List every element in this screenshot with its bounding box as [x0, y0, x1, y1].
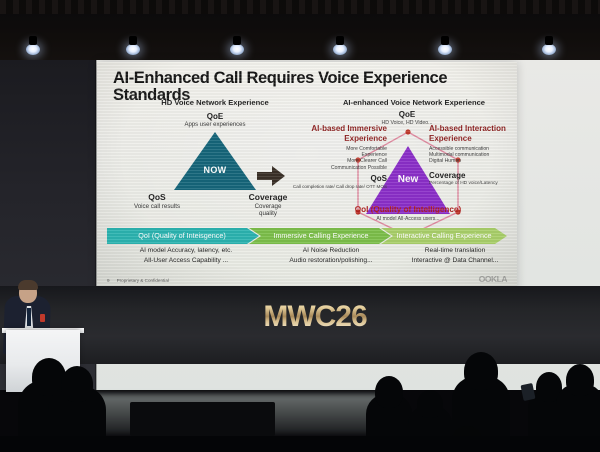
- ceiling-spotlight: [542, 44, 556, 55]
- left-qos-sub: Voice call results: [122, 203, 192, 210]
- interaction-title-line1: AI-based Interaction: [429, 124, 517, 134]
- chevron-2-details: AI Noise Reduction Audio restoration/pol…: [263, 246, 399, 265]
- now-triangle: NOW: [174, 132, 256, 190]
- audience-laptop: [130, 402, 275, 436]
- mwc-banner: MWC26: [240, 300, 390, 334]
- conference-photo: AI-Enhanced Call Requires Voice Experien…: [0, 0, 600, 452]
- ceiling-spotlight: [438, 44, 452, 55]
- audience: [0, 358, 600, 452]
- speaker-badge: [40, 314, 45, 322]
- ceiling-spotlight: [126, 44, 140, 55]
- left-panel-heading: HD Voice Network Experience: [115, 98, 315, 107]
- chevron-1-details: AI model Accuracy, latency, etc. All-Use…: [111, 246, 261, 265]
- slide-confidentiality: Proprietary & Confidential: [117, 278, 169, 283]
- ookla-logo: OOKLA: [479, 274, 507, 284]
- interaction-metric: Coverage: [429, 171, 517, 180]
- immersive-title-line1: AI-based Immersive: [277, 124, 387, 134]
- immersive-title-line2: Experience: [277, 134, 387, 144]
- slide-footer-left: 9Proprietary & Confidential: [107, 278, 169, 283]
- projected-slide: AI-Enhanced Call Requires Voice Experien…: [97, 62, 517, 292]
- qoi-bottom-sub: AI model All-Access users...: [337, 216, 479, 222]
- right-panel-heading: AI-enhanced Voice Network Experience: [315, 98, 513, 107]
- immersive-bullets: More Comfortable Experience More Clearer…: [277, 146, 387, 171]
- chevron-2-label: Immersive Calling Experience: [255, 228, 387, 244]
- qoi-bottom-group: QoI (Quality of Intelligence) AI model A…: [337, 205, 479, 222]
- speaker-hair: [18, 280, 38, 290]
- interaction-metric-sub: Percentage of HD voice/Latency: [429, 181, 517, 186]
- chevron-1-label: QoI (Quality of Inteisgence): [111, 228, 253, 244]
- left-coverage-group: Coverage Coverage quality: [232, 192, 304, 218]
- left-apex-label: QoE: [115, 112, 315, 121]
- ceiling-spotlight: [230, 44, 244, 55]
- chevron-3-details: Real-time translation Interactive @ Data…: [397, 246, 513, 265]
- now-triangle-label: NOW: [174, 165, 256, 175]
- ceiling-truss: [0, 0, 600, 14]
- slide-page-number: 9: [107, 278, 110, 283]
- foreground-row: [0, 436, 600, 452]
- ceiling-spotlight: [333, 44, 347, 55]
- audience-phone: [520, 383, 535, 401]
- ceiling: [0, 0, 600, 68]
- right-apex-label: QoE: [352, 110, 462, 119]
- chevron-band: QoI (Quality of Inteisgence) Immersive C…: [107, 228, 507, 244]
- chevron-3-label: Interactive Calling Experience: [387, 228, 501, 244]
- left-qos-label: QoS: [122, 192, 192, 202]
- immersive-cluster: AI-based Immersive Experience More Comfo…: [277, 124, 387, 189]
- interaction-bullets: Accessible communication Multimodal comm…: [429, 146, 517, 165]
- speaker-tie: [27, 308, 31, 326]
- immersive-metric-sub: Call completion rate/ Call drop rate/ OT…: [277, 184, 387, 189]
- left-coverage-label: Coverage: [232, 192, 304, 202]
- qoi-bottom-label: QoI (Quality of Intelligence): [337, 205, 479, 214]
- immersive-metric: QoS: [277, 174, 387, 183]
- interaction-title-line2: Experience: [429, 134, 517, 144]
- left-coverage-sub: Coverage quality: [232, 203, 304, 218]
- interaction-cluster: AI-based Interaction Experience Accessib…: [429, 124, 517, 186]
- ceiling-spotlight: [26, 44, 40, 55]
- left-qos-group: QoS Voice call results: [122, 192, 192, 210]
